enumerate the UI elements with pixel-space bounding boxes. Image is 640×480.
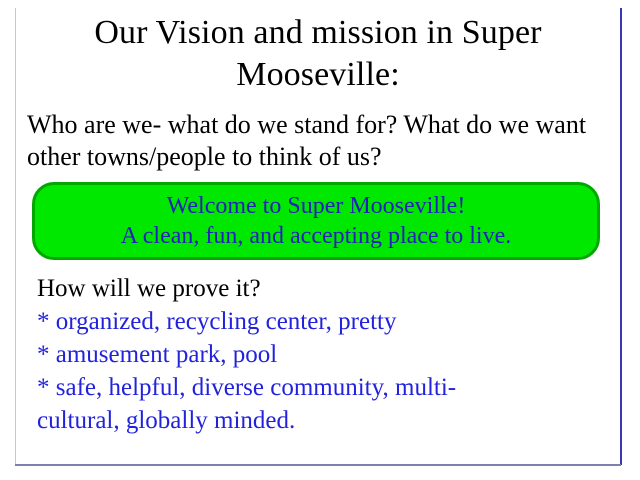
proof-item-4: cultural, globally minded.	[37, 404, 612, 437]
proof-heading: How will we prove it?	[37, 272, 612, 305]
slide-intro-text: Who are we- what do we stand for? What d…	[27, 109, 607, 173]
slide-border-left	[15, 8, 16, 465]
proof-block: How will we prove it? * organized, recyc…	[37, 272, 612, 437]
proof-item-2: * amusement park, pool	[37, 338, 612, 371]
slide-border-bottom	[15, 464, 621, 466]
slide-canvas: Our Vision and mission in Super Moosevil…	[0, 0, 640, 480]
welcome-callout-box: Welcome to Super Mooseville! A clean, fu…	[32, 182, 600, 260]
slide-title: Our Vision and mission in Super Moosevil…	[24, 12, 612, 96]
callout-line-2: A clean, fun, and accepting place to liv…	[121, 221, 512, 251]
proof-item-1: * organized, recycling center, pretty	[37, 305, 612, 338]
callout-line-1: Welcome to Super Mooseville!	[167, 191, 466, 221]
slide-border-right	[620, 8, 622, 465]
proof-item-3: * safe, helpful, diverse community, mult…	[37, 371, 612, 404]
